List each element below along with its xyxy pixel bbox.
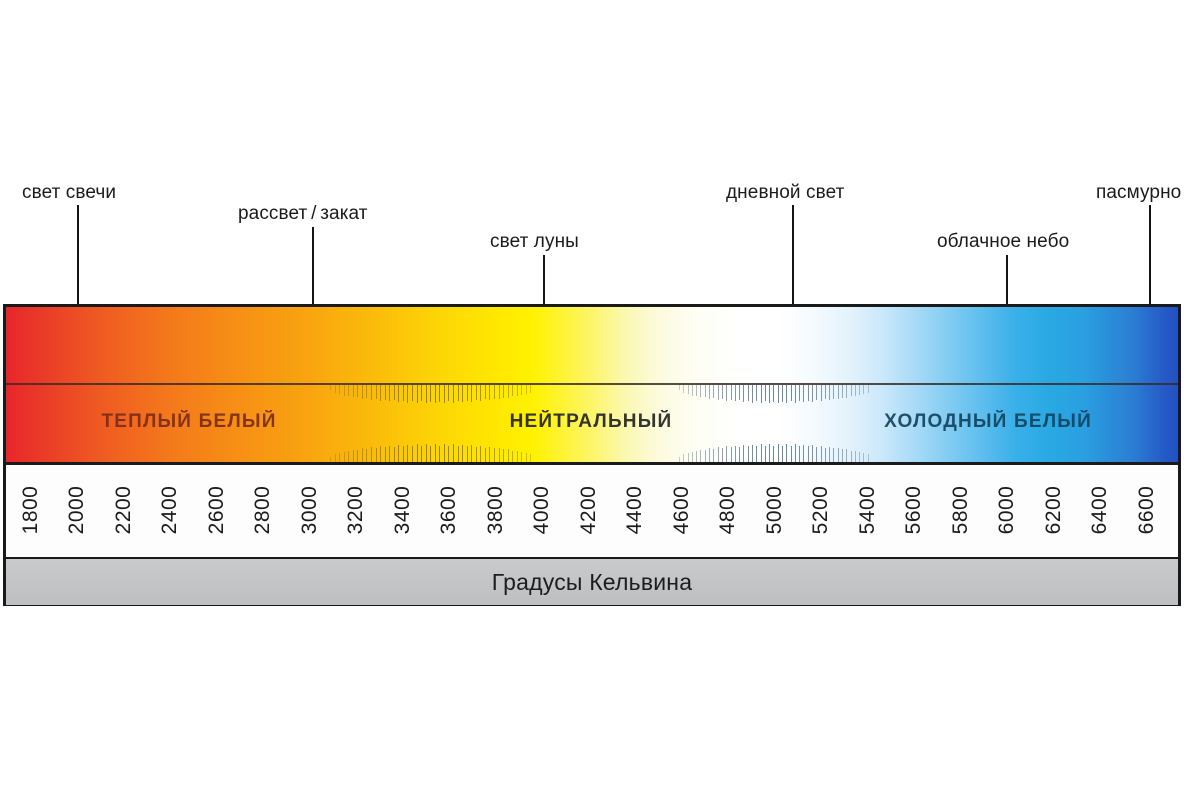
ruler-tick	[398, 385, 399, 402]
ruler-tick	[718, 447, 719, 462]
kelvin-tick-5400: 5400	[856, 486, 880, 535]
callout-label-overcast: пасмурно	[1096, 182, 1181, 204]
ruler-tick	[808, 385, 809, 401]
ruler-tick	[683, 454, 684, 462]
ruler-tick	[859, 452, 860, 462]
ruler-tick	[705, 450, 706, 462]
band-label-cool-white: ХОЛОДНЫЙ БЕЛЫЙ	[884, 411, 1092, 433]
ruler-tick	[752, 385, 753, 403]
gradient-strip-bottom: ТЕПЛЫЙ БЕЛЫЙ НЕЙТРАЛЬНЫЙ ХОЛОДНЫЙ БЕЛЫЙ	[6, 384, 1178, 464]
callout-label-daylight: дневной свет	[726, 182, 844, 204]
kelvin-tick-6600: 6600	[1135, 486, 1159, 535]
ruler-tick	[838, 448, 839, 462]
ruler-tick	[385, 385, 386, 400]
ruler-tick	[855, 451, 856, 462]
ruler-tick	[344, 452, 345, 463]
ruler-tick	[485, 385, 486, 399]
ruler-tick	[756, 385, 757, 401]
ruler-tick	[726, 446, 727, 462]
ruler-tick	[499, 385, 500, 399]
ruler-tick	[709, 385, 710, 399]
ruler-tick	[426, 444, 427, 462]
ruler-tick	[769, 385, 770, 403]
kelvin-tick-4000: 4000	[530, 486, 554, 535]
ruler-tick	[791, 385, 792, 401]
ruler-tick	[467, 385, 468, 401]
ruler-tick	[458, 385, 459, 401]
ruler-tick	[512, 385, 513, 396]
ruler-tick	[430, 385, 431, 402]
ruler-tick	[439, 446, 440, 463]
ruler-tick	[868, 454, 869, 462]
ruler-tick	[825, 448, 826, 462]
ruler-tick	[782, 446, 783, 463]
ruler-tick	[476, 447, 477, 462]
ruler-tick	[833, 385, 834, 399]
ruler-tick	[739, 447, 740, 462]
kelvin-tick-6400: 6400	[1088, 486, 1112, 535]
ruler-tick	[795, 444, 796, 462]
ruler-tick	[743, 385, 744, 402]
ruler-tick	[389, 385, 390, 401]
ruler-tick	[791, 446, 792, 462]
ruler-tick	[398, 445, 399, 462]
ruler-tick	[366, 449, 367, 462]
ruler-tick	[846, 385, 847, 398]
ruler-tick	[692, 452, 693, 463]
ruler-tick	[731, 447, 732, 462]
gradient-divider-line	[6, 383, 1178, 385]
ruler-tick	[357, 450, 358, 462]
band-label-neutral: НЕЙТРАЛЬНЫЙ	[510, 411, 673, 433]
ruler-tick	[403, 385, 404, 401]
warm-ruler-ticks-upper	[330, 385, 535, 405]
ruler-tick	[462, 385, 463, 402]
ruler-tick	[816, 447, 817, 462]
kelvin-tick-4800: 4800	[716, 486, 740, 535]
kelvin-tick-5800: 5800	[949, 486, 973, 535]
ruler-tick	[517, 451, 518, 462]
ruler-tick	[412, 385, 413, 401]
ruler-tick	[821, 385, 822, 401]
ruler-tick	[330, 385, 331, 390]
ruler-tick	[353, 385, 354, 397]
ruler-tick	[700, 385, 701, 397]
ruler-tick	[816, 385, 817, 400]
ruler-tick	[709, 448, 710, 462]
ruler-tick	[353, 450, 354, 462]
kelvin-tick-1800: 1800	[19, 486, 43, 535]
kelvin-scale-numbers: 1800200022002400260028003000320034003600…	[6, 465, 1178, 555]
ruler-tick	[812, 445, 813, 462]
ruler-tick	[489, 447, 490, 462]
kelvin-tick-2000: 2000	[65, 486, 89, 535]
ruler-tick	[426, 385, 427, 403]
ruler-tick	[722, 448, 723, 462]
ruler-tick	[521, 452, 522, 462]
ruler-tick	[773, 385, 774, 402]
ruler-tick	[688, 385, 689, 394]
ruler-tick	[407, 445, 408, 463]
ruler-tick	[448, 385, 449, 401]
kelvin-tick-2200: 2200	[112, 486, 136, 535]
ruler-tick	[389, 446, 390, 462]
ruler-tick	[458, 446, 459, 462]
warm-ruler-ticks-lower	[330, 443, 535, 462]
ruler-tick	[718, 385, 719, 400]
ruler-tick	[855, 385, 856, 396]
ruler-tick	[743, 445, 744, 462]
ruler-tick	[722, 385, 723, 399]
ruler-tick	[494, 448, 495, 462]
kelvin-tick-5000: 5000	[763, 486, 787, 535]
ruler-tick	[756, 446, 757, 462]
callout-label-moonlight: свет луны	[490, 231, 579, 253]
ruler-tick	[339, 453, 340, 462]
ruler-tick	[480, 385, 481, 401]
kelvin-units-bar: Градусы Кельвина	[6, 557, 1178, 605]
ruler-tick	[799, 446, 800, 462]
callout-label-sunrise-sunset: рассвет / закат	[238, 203, 368, 225]
ruler-tick	[868, 385, 869, 393]
ruler-tick	[335, 385, 336, 393]
ruler-tick	[394, 385, 395, 400]
ruler-tick	[713, 385, 714, 398]
ruler-tick	[508, 385, 509, 398]
ruler-tick	[773, 446, 774, 463]
cool-ruler-ticks-upper	[679, 385, 872, 405]
ruler-tick	[696, 451, 697, 462]
ruler-tick	[761, 444, 762, 462]
ruler-tick	[752, 445, 753, 463]
ruler-tick	[526, 385, 527, 394]
ruler-tick	[778, 385, 779, 403]
ruler-tick	[683, 385, 684, 393]
ruler-tick	[366, 385, 367, 398]
ruler-tick	[380, 446, 381, 462]
ruler-tick	[371, 447, 372, 462]
ruler-tick	[362, 385, 363, 399]
ruler-tick	[503, 449, 504, 462]
ruler-tick	[829, 385, 830, 400]
ruler-tick	[782, 385, 783, 402]
ruler-tick	[700, 450, 701, 462]
ruler-tick	[726, 385, 727, 401]
ruler-tick	[748, 446, 749, 462]
kelvin-tick-2400: 2400	[158, 486, 182, 535]
ruler-tick	[503, 385, 504, 398]
kelvin-tick-4600: 4600	[670, 486, 694, 535]
ruler-tick	[748, 385, 749, 401]
kelvin-tick-4400: 4400	[623, 486, 647, 535]
ruler-tick	[385, 447, 386, 462]
ruler-tick	[829, 447, 830, 462]
ruler-tick	[825, 385, 826, 399]
ruler-tick	[380, 385, 381, 401]
ruler-tick	[480, 446, 481, 462]
ruler-tick	[417, 444, 418, 462]
ruler-tick	[348, 451, 349, 462]
ruler-tick	[462, 445, 463, 462]
ruler-tick	[517, 385, 518, 396]
ruler-tick	[821, 446, 822, 462]
ruler-tick	[838, 385, 839, 399]
ruler-tick	[435, 444, 436, 462]
ruler-tick	[851, 451, 852, 462]
ruler-tick	[765, 385, 766, 401]
kelvin-tick-4200: 4200	[577, 486, 601, 535]
ruler-tick	[494, 385, 495, 399]
ruler-tick	[692, 385, 693, 396]
callout-label-candle-light: свет свечи	[22, 182, 116, 204]
color-temperature-diagram: свет свечирассвет / закатсвет луныдневно…	[0, 0, 1200, 800]
kelvin-tick-5600: 5600	[902, 486, 926, 535]
ruler-tick	[394, 447, 395, 462]
ruler-tick	[453, 385, 454, 403]
kelvin-units-label: Градусы Кельвина	[492, 569, 692, 596]
cool-ruler-ticks-lower	[679, 443, 872, 462]
ruler-tick	[731, 385, 732, 400]
ruler-tick	[859, 385, 860, 395]
ruler-tick	[444, 385, 445, 403]
ruler-tick	[761, 385, 762, 403]
ruler-tick	[735, 446, 736, 462]
ruler-tick	[407, 385, 408, 403]
kelvin-tick-5200: 5200	[809, 486, 833, 535]
callout-label-cloudy-sky: облачное небо	[937, 231, 1069, 253]
ruler-tick	[376, 385, 377, 399]
ruler-tick	[526, 453, 527, 462]
ruler-tick	[679, 385, 680, 390]
ruler-tick	[688, 453, 689, 462]
ruler-tick	[453, 444, 454, 462]
ruler-tick	[778, 444, 779, 462]
ruler-tick	[421, 385, 422, 401]
kelvin-tick-2600: 2600	[205, 486, 229, 535]
gradient-strip-top	[6, 307, 1178, 384]
ruler-tick	[696, 385, 697, 396]
ruler-tick	[344, 385, 345, 396]
kelvin-tick-3600: 3600	[437, 486, 461, 535]
ruler-tick	[530, 454, 531, 462]
ruler-tick	[803, 385, 804, 402]
ruler-tick	[512, 451, 513, 462]
ruler-tick	[444, 444, 445, 462]
ruler-tick	[713, 449, 714, 462]
ruler-tick	[376, 448, 377, 462]
ruler-tick	[471, 385, 472, 402]
ruler-tick	[448, 446, 449, 462]
ruler-tick	[795, 385, 796, 403]
ruler-tick	[371, 385, 372, 400]
ruler-tick	[705, 385, 706, 397]
ruler-tick	[435, 385, 436, 403]
ruler-tick	[339, 385, 340, 394]
ruler-tick	[846, 449, 847, 462]
ruler-tick	[863, 385, 864, 394]
gradient-fill-top	[6, 307, 1178, 384]
ruler-tick	[476, 385, 477, 400]
ruler-tick	[421, 446, 422, 462]
ruler-tick	[489, 385, 490, 400]
ruler-tick	[812, 385, 813, 402]
ruler-tick	[842, 449, 843, 462]
kelvin-tick-3000: 3000	[298, 486, 322, 535]
ruler-tick	[808, 446, 809, 462]
ruler-tick	[833, 448, 834, 462]
ruler-tick	[739, 385, 740, 400]
ruler-tick	[735, 385, 736, 401]
kelvin-tick-6000: 6000	[995, 486, 1019, 535]
ruler-tick	[863, 453, 864, 462]
ruler-tick	[521, 385, 522, 395]
ruler-tick	[335, 454, 336, 462]
ruler-tick	[403, 446, 404, 462]
ruler-tick	[357, 385, 358, 397]
chart-frame: ТЕПЛЫЙ БЕЛЫЙ НЕЙТРАЛЬНЫЙ ХОЛОДНЫЙ БЕЛЫЙ …	[3, 304, 1181, 606]
kelvin-tick-3400: 3400	[391, 486, 415, 535]
ruler-tick	[799, 385, 800, 401]
ruler-tick	[485, 448, 486, 462]
ruler-tick	[467, 446, 468, 462]
ruler-tick	[430, 446, 431, 463]
ruler-tick	[786, 385, 787, 403]
kelvin-tick-2800: 2800	[251, 486, 275, 535]
ruler-tick	[765, 446, 766, 462]
ruler-tick	[439, 385, 440, 402]
ruler-tick	[508, 449, 509, 462]
ruler-tick	[471, 445, 472, 462]
ruler-tick	[842, 385, 843, 398]
ruler-tick	[769, 444, 770, 462]
ruler-tick	[417, 385, 418, 403]
ruler-tick	[786, 444, 787, 462]
kelvin-tick-3800: 3800	[484, 486, 508, 535]
ruler-tick	[851, 385, 852, 396]
ruler-tick	[362, 448, 363, 462]
ruler-tick	[348, 385, 349, 396]
kelvin-tick-6200: 6200	[1042, 486, 1066, 535]
ruler-tick	[412, 446, 413, 462]
band-label-warm-white: ТЕПЛЫЙ БЕЛЫЙ	[101, 411, 276, 433]
ruler-tick	[530, 385, 531, 393]
ruler-tick	[803, 445, 804, 462]
kelvin-tick-3200: 3200	[344, 486, 368, 535]
ruler-tick	[499, 448, 500, 462]
